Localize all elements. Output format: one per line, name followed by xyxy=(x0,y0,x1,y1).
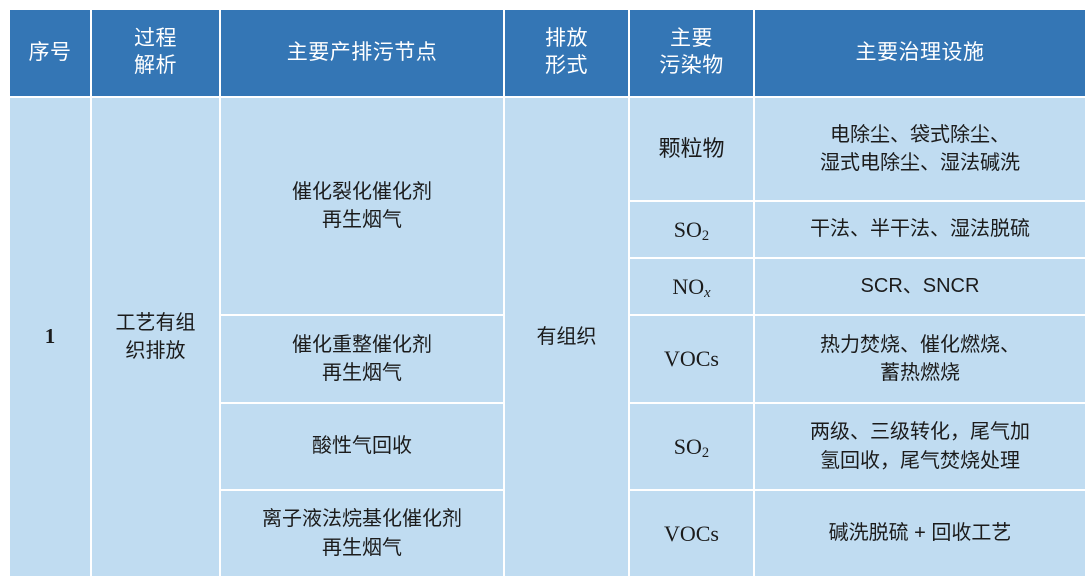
pollutant-2-subscript: 2 xyxy=(702,228,709,244)
table-header: 序号 过程 解析 主要产排污节点 排放 形式 主要 污染物 xyxy=(10,10,1085,96)
table-row: 1 工艺有组 织排放 催化裂化催化剂 再生烟气 有组织 颗粒物 电除尘、袋式除尘… xyxy=(10,98,1085,200)
facility-1-line2: 湿式电除尘、湿法碱洗 xyxy=(761,149,1079,177)
cell-emission-form: 有组织 xyxy=(505,98,628,576)
header-serial-line1: 序号 xyxy=(12,40,88,67)
cell-facility-4: 热力焚烧、催化燃烧、 蓄热燃烧 xyxy=(755,316,1085,402)
cell-pollutant-6: VOCs xyxy=(630,491,753,576)
facility-2-line1: 干法、半干法、湿法脱硫 xyxy=(761,215,1079,243)
cell-pollutant-4: VOCs xyxy=(630,316,753,402)
pollutant-1-base: 颗粒物 xyxy=(658,136,724,161)
header-process-line1: 过程 xyxy=(94,26,217,53)
cell-facility-5: 两级、三级转化，尾气加 氢回收，尾气焚烧处理 xyxy=(755,404,1085,489)
node-1-line1: 催化裂化催化剂 xyxy=(227,178,497,206)
column-header-process: 过程 解析 xyxy=(92,10,219,96)
cell-pollutant-1: 颗粒物 xyxy=(630,98,753,200)
header-facility-line1: 主要治理设施 xyxy=(757,40,1083,67)
pollution-process-table: 序号 过程 解析 主要产排污节点 排放 形式 主要 污染物 xyxy=(8,8,1085,578)
pollutant-4-base: VOCs xyxy=(664,346,719,371)
node-2-line1: 催化重整催化剂 xyxy=(227,331,497,359)
cell-facility-3: SCR、SNCR xyxy=(755,259,1085,314)
column-header-node: 主要产排污节点 xyxy=(221,10,503,96)
cell-pollutant-2: SO2 xyxy=(630,202,753,257)
cell-process-analysis: 工艺有组 织排放 xyxy=(92,98,219,576)
cell-node-1: 催化裂化催化剂 再生烟气 xyxy=(221,98,503,314)
column-header-pollutant: 主要 污染物 xyxy=(630,10,753,96)
node-4-line1: 离子液法烷基化催化剂 xyxy=(227,505,497,533)
pollutant-3-base: NO xyxy=(672,274,704,299)
cell-facility-1: 电除尘、袋式除尘、 湿式电除尘、湿法碱洗 xyxy=(755,98,1085,200)
cell-pollutant-5: SO2 xyxy=(630,404,753,489)
facility-5-line1: 两级、三级转化，尾气加 xyxy=(761,418,1079,446)
pollutant-3-subscript: x xyxy=(704,285,710,301)
process-line2: 织排放 xyxy=(98,337,213,365)
header-form-line1: 排放 xyxy=(507,26,626,53)
header-node-line1: 主要产排污节点 xyxy=(223,40,501,67)
facility-6-line1: 碱洗脱硫 + 回收工艺 xyxy=(761,519,1079,547)
header-pollutant-line1: 主要 xyxy=(632,26,751,53)
pollutant-2-base: SO xyxy=(674,217,702,242)
header-pollutant-line2: 污染物 xyxy=(632,53,751,80)
facility-3-line1: SCR、SNCR xyxy=(761,272,1079,300)
cell-node-4: 离子液法烷基化催化剂 再生烟气 xyxy=(221,491,503,576)
cell-node-2: 催化重整催化剂 再生烟气 xyxy=(221,316,503,402)
facility-5-line2: 氢回收，尾气焚烧处理 xyxy=(761,447,1079,475)
node-2-line2: 再生烟气 xyxy=(227,359,497,387)
node-4-line2: 再生烟气 xyxy=(227,534,497,562)
cell-node-3: 酸性气回收 xyxy=(221,404,503,489)
node-3-line1: 酸性气回收 xyxy=(227,432,497,460)
facility-1-line1: 电除尘、袋式除尘、 xyxy=(761,121,1079,149)
header-row: 序号 过程 解析 主要产排污节点 排放 形式 主要 污染物 xyxy=(10,10,1085,96)
table-body: 1 工艺有组 织排放 催化裂化催化剂 再生烟气 有组织 颗粒物 电除尘、袋式除尘… xyxy=(10,98,1085,576)
cell-facility-6: 碱洗脱硫 + 回收工艺 xyxy=(755,491,1085,576)
column-header-serial: 序号 xyxy=(10,10,90,96)
cell-facility-2: 干法、半干法、湿法脱硫 xyxy=(755,202,1085,257)
pollution-process-table-container: 序号 过程 解析 主要产排污节点 排放 形式 主要 污染物 xyxy=(8,8,1077,568)
header-form-line2: 形式 xyxy=(507,53,626,80)
column-header-facility: 主要治理设施 xyxy=(755,10,1085,96)
pollutant-5-subscript: 2 xyxy=(702,445,709,461)
cell-serial-number: 1 xyxy=(10,98,90,576)
facility-4-line2: 蓄热燃烧 xyxy=(761,359,1079,387)
process-line1: 工艺有组 xyxy=(98,309,213,337)
facility-4-line1: 热力焚烧、催化燃烧、 xyxy=(761,331,1079,359)
header-process-line2: 解析 xyxy=(94,53,217,80)
cell-pollutant-3: NOx xyxy=(630,259,753,314)
column-header-emission-form: 排放 形式 xyxy=(505,10,628,96)
pollutant-5-base: SO xyxy=(674,434,702,459)
node-1-line2: 再生烟气 xyxy=(227,206,497,234)
pollutant-6-base: VOCs xyxy=(664,521,719,546)
